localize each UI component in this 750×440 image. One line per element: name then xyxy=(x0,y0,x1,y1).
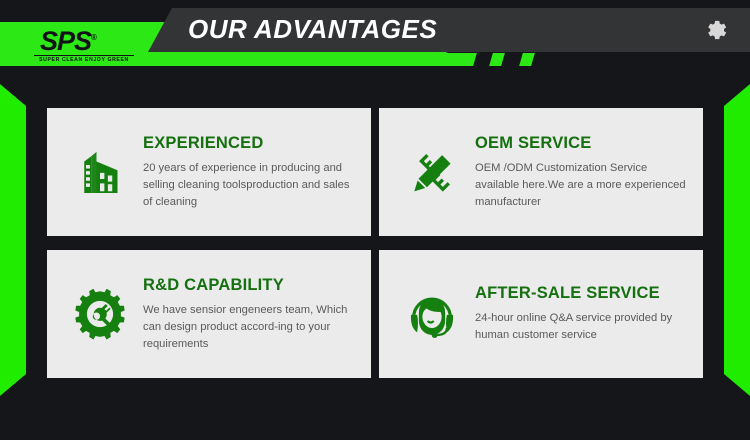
building-icon xyxy=(63,135,137,209)
stripe-1 xyxy=(435,53,477,66)
advantages-banner: OUR ADVANTAGES SPS® SUPER CLEAN ENJOY GR… xyxy=(0,0,750,440)
card-body: AFTER-SALE SERVICE 24-hour online Q&A se… xyxy=(469,284,689,344)
gear-icon[interactable] xyxy=(702,14,734,46)
card-title: EXPERIENCED xyxy=(143,134,357,153)
pencil-ruler-icon xyxy=(395,135,469,209)
card-body: EXPERIENCED 20 years of experience in pr… xyxy=(137,134,357,211)
logo-mark: SPS® xyxy=(34,24,138,55)
page-title: OUR ADVANTAGES xyxy=(188,14,437,45)
logo-text: SPS xyxy=(40,26,91,56)
stripe-2 xyxy=(489,53,505,66)
headset-support-icon xyxy=(395,277,469,351)
advantage-card-rd-capability[interactable]: R&D CAPABILITY We have sensior engeneers… xyxy=(47,250,371,378)
card-description: 20 years of experience in producing and … xyxy=(143,160,357,211)
gear-wrench-icon xyxy=(63,277,137,351)
left-accent-bar xyxy=(0,84,26,396)
advantage-card-oem-service[interactable]: OEM SERVICE OEM /ODM Customization Servi… xyxy=(379,108,703,236)
brand-logo: SPS® SUPER CLEAN ENJOY GREEN xyxy=(34,24,138,64)
advantages-grid: EXPERIENCED 20 years of experience in pr… xyxy=(47,108,703,386)
card-title: R&D CAPABILITY xyxy=(143,276,357,295)
stripe-3 xyxy=(519,53,535,66)
card-body: OEM SERVICE OEM /ODM Customization Servi… xyxy=(469,134,689,211)
card-description: We have sensior engeneers team, Which ca… xyxy=(143,302,357,353)
card-title: OEM SERVICE xyxy=(475,134,689,153)
card-title: AFTER-SALE SERVICE xyxy=(475,284,689,303)
card-description: OEM /ODM Customization Service available… xyxy=(475,160,689,211)
advantage-card-experienced[interactable]: EXPERIENCED 20 years of experience in pr… xyxy=(47,108,371,236)
registered-mark: ® xyxy=(91,33,96,42)
card-body: R&D CAPABILITY We have sensior engeneers… xyxy=(137,276,357,353)
advantage-card-after-sale-service[interactable]: AFTER-SALE SERVICE 24-hour online Q&A se… xyxy=(379,250,703,378)
right-accent-bar xyxy=(724,84,750,396)
logo-tagline: SUPER CLEAN ENJOY GREEN xyxy=(34,55,134,64)
card-description: 24-hour online Q&A service provided by h… xyxy=(475,310,689,344)
header: OUR ADVANTAGES SPS® SUPER CLEAN ENJOY GR… xyxy=(0,0,750,90)
